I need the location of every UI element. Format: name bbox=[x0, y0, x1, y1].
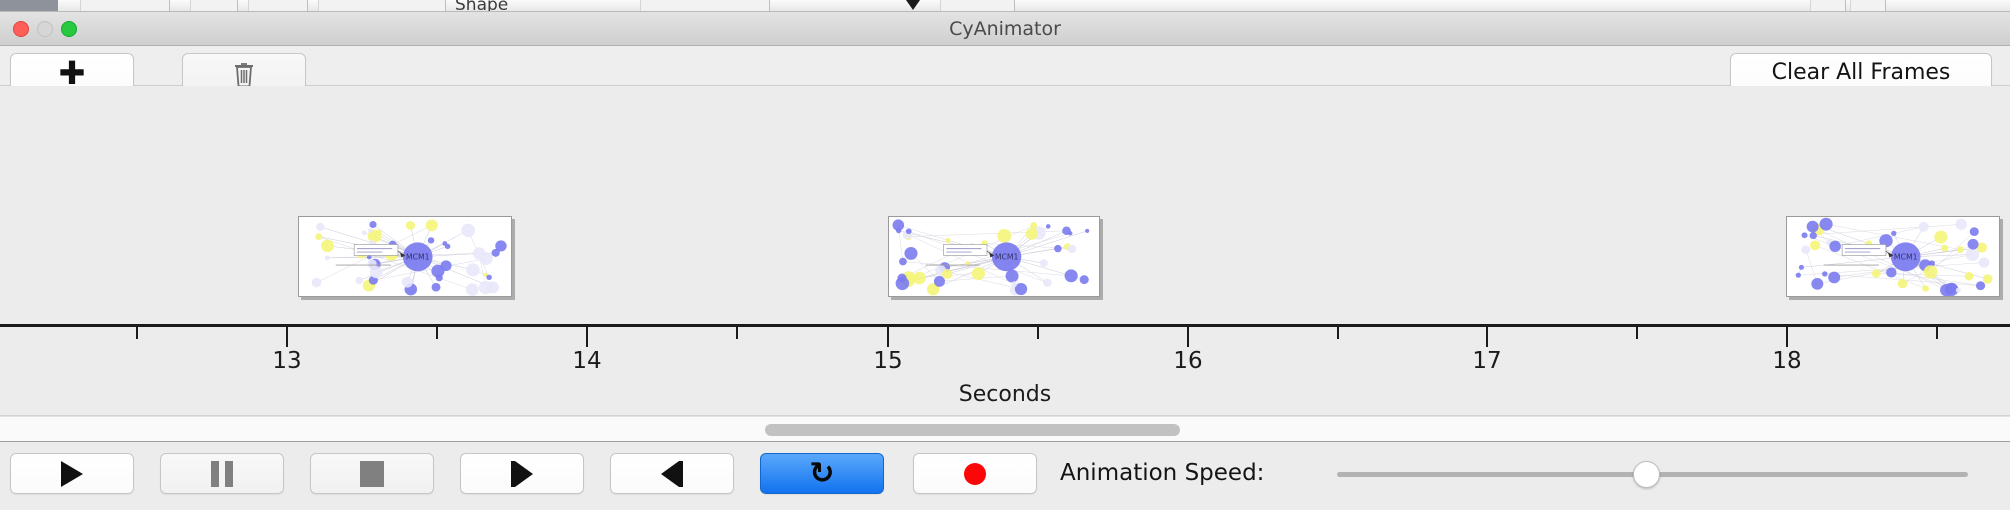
stop-button[interactable] bbox=[310, 453, 434, 494]
axis-tick-13 bbox=[286, 327, 288, 347]
frame-thumbnail[interactable]: MCM1 bbox=[298, 216, 512, 297]
svg-text:MCM1: MCM1 bbox=[1894, 253, 1918, 262]
axis-tick-14 bbox=[586, 327, 588, 347]
axis-tick-15 bbox=[887, 327, 889, 347]
trash-icon bbox=[232, 59, 256, 87]
axis-tick-label: 15 bbox=[873, 348, 902, 374]
play-icon bbox=[61, 461, 83, 487]
axis-tick-14.5 bbox=[736, 327, 738, 339]
loop-button[interactable]: ↻ bbox=[760, 453, 884, 494]
axis-tick-label: 16 bbox=[1173, 348, 1202, 374]
background-window-strip: Shape bbox=[0, 0, 2010, 12]
record-icon bbox=[964, 463, 986, 485]
axis-tick-15.5 bbox=[1037, 327, 1039, 339]
axis-tick-12.5 bbox=[136, 327, 138, 339]
axis-tick-label: 18 bbox=[1772, 348, 1801, 374]
background-window-label: Shape bbox=[455, 0, 508, 12]
timeline-axis-line bbox=[0, 324, 2010, 327]
window-title: CyAnimator bbox=[0, 12, 2010, 46]
cyanimator-window: Shape CyAnimator ✚ Clear All Frames bbox=[0, 0, 2010, 510]
axis-tick-17.5 bbox=[1636, 327, 1638, 339]
playback-control-bar: ↻ Animation Speed: bbox=[0, 443, 2010, 510]
axis-tick-16 bbox=[1187, 327, 1189, 347]
svg-text:MCM1: MCM1 bbox=[406, 253, 430, 262]
timeline-scrollbar-thumb[interactable] bbox=[765, 424, 1180, 436]
skip-back-icon bbox=[511, 461, 533, 487]
animation-speed-slider-thumb[interactable] bbox=[1633, 461, 1660, 488]
plus-icon: ✚ bbox=[59, 57, 86, 89]
pause-button[interactable] bbox=[160, 453, 284, 494]
timeline-panel[interactable]: MCM1 MCM1 MCM1 2131415161718 Seconds bbox=[0, 86, 2010, 416]
axis-tick-16.5 bbox=[1337, 327, 1339, 339]
pause-icon bbox=[211, 461, 233, 487]
play-button[interactable] bbox=[10, 453, 134, 494]
record-button[interactable] bbox=[913, 453, 1037, 494]
axis-title: Seconds bbox=[0, 382, 2010, 407]
animation-speed-label: Animation Speed: bbox=[1060, 453, 1264, 494]
frame-toolbar: ✚ Clear All Frames bbox=[0, 46, 2010, 86]
frame-thumbnail[interactable]: MCM1 bbox=[1786, 216, 2000, 297]
loop-icon: ↻ bbox=[809, 459, 834, 489]
svg-text:MCM1: MCM1 bbox=[995, 253, 1019, 262]
axis-tick-18 bbox=[1786, 327, 1788, 347]
stop-icon bbox=[360, 461, 384, 487]
timeline-scrollbar[interactable] bbox=[0, 416, 2010, 442]
frame-thumbnail[interactable]: MCM1 bbox=[888, 216, 1100, 297]
axis-tick-label: 13 bbox=[272, 348, 301, 374]
skip-to-end-button[interactable] bbox=[610, 453, 734, 494]
axis-tick-label: 17 bbox=[1472, 348, 1501, 374]
axis-tick-18.5 bbox=[1936, 327, 1938, 339]
background-window-tab bbox=[0, 0, 58, 12]
axis-tick-13.5 bbox=[436, 327, 438, 339]
title-bar[interactable]: CyAnimator bbox=[0, 12, 2010, 46]
skip-forward-icon bbox=[661, 461, 683, 487]
axis-tick-label: 14 bbox=[572, 348, 601, 374]
axis-tick-17 bbox=[1486, 327, 1488, 347]
skip-to-start-button[interactable] bbox=[460, 453, 584, 494]
